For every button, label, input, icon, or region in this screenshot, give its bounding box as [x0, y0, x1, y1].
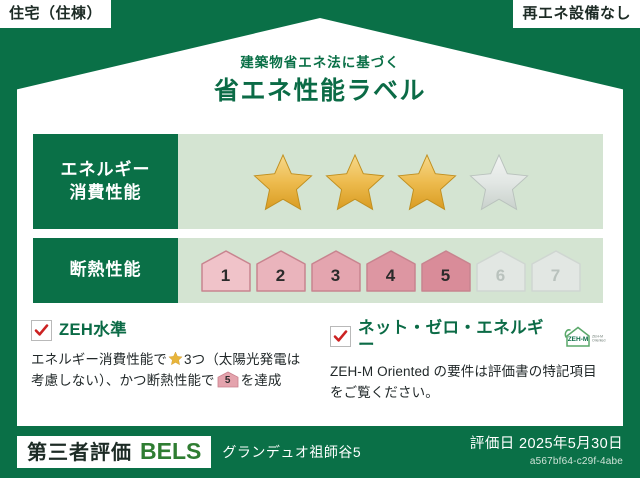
insulation-performance-value: 1234567: [178, 238, 603, 303]
star-rating: [252, 152, 530, 212]
star-filled-icon: [252, 152, 314, 212]
zeh-standard-body: エネルギー消費性能で3つ（太陽光発電は考慮しない）、かつ断熱性能で5を達成: [31, 349, 306, 392]
zeh-body-part1: エネルギー消費性能で: [31, 352, 167, 367]
grade-number: 2: [276, 266, 285, 293]
zeh-standard-head: ZEH水準: [31, 320, 306, 341]
insulation-grade-5: 5: [420, 249, 472, 293]
insulation-grade-2: 2: [255, 249, 307, 293]
insulation-grade-6: 6: [475, 249, 527, 293]
inline-star-icon: [168, 351, 183, 366]
svg-text:ZEH-M: ZEH-M: [568, 336, 589, 343]
net-zero-energy-body: ZEH-M Oriented の要件は評価書の特記項目をご覧ください。: [330, 361, 609, 404]
insulation-grade-7: 7: [530, 249, 582, 293]
bels-badge: 第三者評価 BELS: [17, 436, 211, 468]
zeh-body-part3: を達成: [241, 373, 282, 388]
bels-label: BELS: [140, 440, 201, 463]
insulation-performance-row: 断熱性能 1234567: [33, 238, 603, 303]
performance-rows: エネルギー 消費性能 断熱性能 1234567: [33, 134, 603, 312]
grade-number: 6: [496, 266, 505, 293]
evaluation-date: 評価日 2025年5月30日: [470, 437, 623, 453]
checkmark-icon: [330, 326, 351, 347]
insulation-grade-scale: 1234567: [200, 249, 582, 293]
insulation-grade-3: 3: [310, 249, 362, 293]
building-type-tag: 住宅（住棟）: [0, 0, 111, 28]
evaluation-info: 評価日 2025年5月30日 a567bf64-c29f-4abe: [470, 437, 623, 467]
energy-performance-label: 住宅（住棟） 再エネ設備なし 建築物省エネ法に基づく 省エネ性能ラベル エネルギ…: [0, 0, 640, 478]
net-zero-energy-note: ネット・ゼロ・エネルギー ZEH-M ZEH-M Oriented ZEH-M …: [320, 320, 609, 404]
grade-number: 3: [331, 266, 340, 293]
svg-text:Oriented: Oriented: [592, 338, 605, 342]
heading-subtitle: 建築物省エネ法に基づく: [17, 56, 623, 70]
bottom-bar: 第三者評価 BELS グランデュオ祖師谷5 評価日 2025年5月30日 a56…: [0, 426, 640, 478]
checkmark-icon: [31, 320, 52, 341]
insulation-grade-1: 1: [200, 249, 252, 293]
grade-number: 1: [221, 266, 230, 293]
label-heading: 建築物省エネ法に基づく 省エネ性能ラベル: [17, 56, 623, 104]
grade-number: 4: [386, 266, 395, 293]
star-filled-icon: [396, 152, 458, 212]
svg-text:ZEH-M: ZEH-M: [592, 334, 603, 338]
inline-grade-value: 5: [217, 373, 239, 389]
renewable-energy-tag: 再エネ設備なし: [513, 0, 640, 28]
energy-performance-row: エネルギー 消費性能: [33, 134, 603, 229]
insulation-performance-label: 断熱性能: [33, 238, 178, 303]
energy-performance-label: エネルギー 消費性能: [33, 134, 178, 229]
zeh-standard-note: ZEH水準 エネルギー消費性能で3つ（太陽光発電は考慮しない）、かつ断熱性能で5…: [31, 320, 320, 404]
energy-label-line1: エネルギー: [61, 160, 151, 179]
net-zero-energy-head: ネット・ゼロ・エネルギー ZEH-M ZEH-M Oriented: [330, 320, 609, 353]
net-zero-energy-title: ネット・ゼロ・エネルギー: [358, 320, 553, 353]
inline-grade-badge: 5: [217, 371, 239, 388]
grade-number: 5: [441, 266, 450, 293]
zeh-m-logo-icon: ZEH-M ZEH-M Oriented: [563, 325, 609, 349]
zeh-notes: ZEH水準 エネルギー消費性能で3つ（太陽光発電は考慮しない）、かつ断熱性能で5…: [31, 320, 609, 404]
grade-number: 7: [551, 266, 560, 293]
energy-performance-value: [178, 134, 603, 229]
energy-label-line2: 消費性能: [70, 183, 142, 202]
star-empty-icon: [468, 152, 530, 212]
evaluation-id: a567bf64-c29f-4abe: [470, 456, 623, 467]
insulation-grade-4: 4: [365, 249, 417, 293]
heading-title: 省エネ性能ラベル: [17, 79, 623, 104]
third-party-label: 第三者評価: [27, 443, 132, 463]
star-filled-icon: [324, 152, 386, 212]
building-name: グランデュオ祖師谷5: [222, 442, 361, 462]
zeh-standard-title: ZEH水準: [59, 322, 127, 339]
